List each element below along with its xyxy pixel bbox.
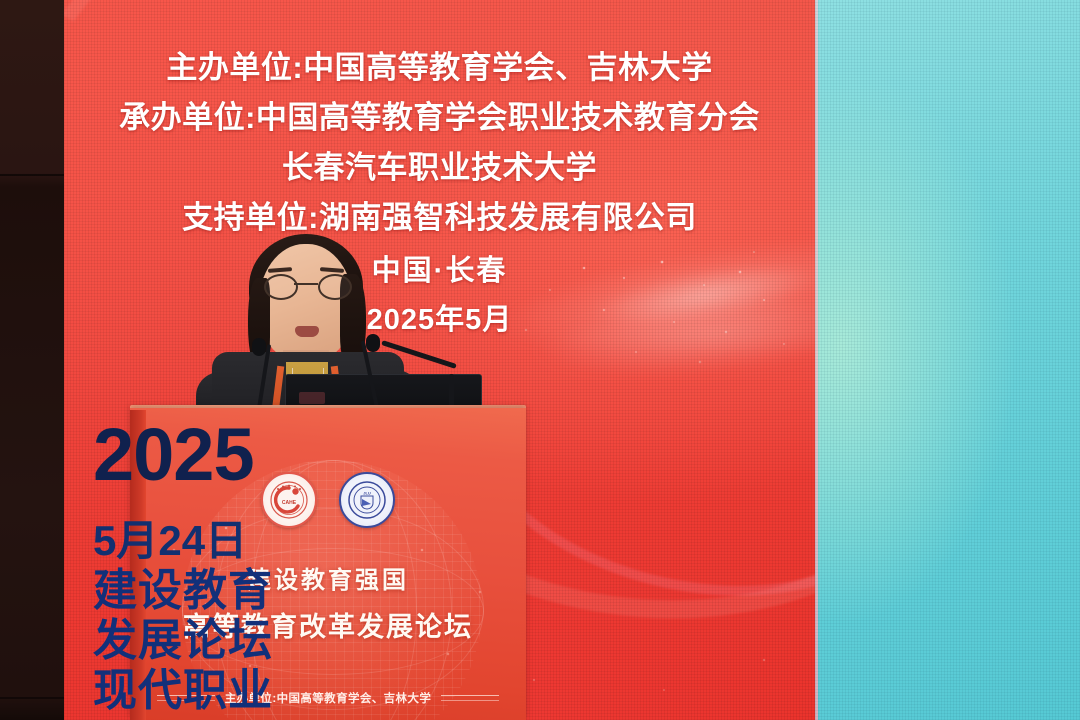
jlu-logo-text: JLU	[363, 491, 371, 496]
speaker-mouth	[295, 326, 319, 337]
microphone-head-left	[252, 338, 266, 356]
side-screen-line3: 发展论坛	[93, 619, 273, 664]
cahe-logo-text: CAHE	[282, 500, 297, 506]
jlu-logo-mark: JLU	[347, 480, 387, 520]
footer-rule-right	[441, 695, 499, 701]
microphone-head-right	[366, 334, 380, 352]
glasses-lens-right	[318, 274, 352, 300]
side-screen-line4: 现代职业	[93, 669, 273, 714]
side-led-pixel-grid	[815, 0, 1080, 720]
side-screen-text-block: 5月24日 建设教育 发展论坛 现代职业	[93, 520, 273, 718]
cahe-logo-mark: CAHE	[269, 480, 309, 520]
side-screen-line2: 建设教育	[93, 569, 273, 614]
glasses-icon	[262, 274, 352, 296]
conference-stage-photo: 主办单位:中国高等教育学会、吉林大学 承办单位:中国高等教育学会职业技术教育分会…	[0, 0, 1080, 720]
glasses-bridge	[294, 283, 318, 285]
jilin-university-logo-icon: JLU	[339, 472, 395, 528]
laptop-badge	[299, 392, 325, 404]
screen-seam-divider	[815, 0, 818, 720]
side-led-screen	[815, 0, 1080, 720]
glasses-lens-left	[264, 274, 298, 300]
side-screen-year: 2025	[93, 418, 254, 492]
side-screen-date: 5月24日	[93, 520, 273, 563]
